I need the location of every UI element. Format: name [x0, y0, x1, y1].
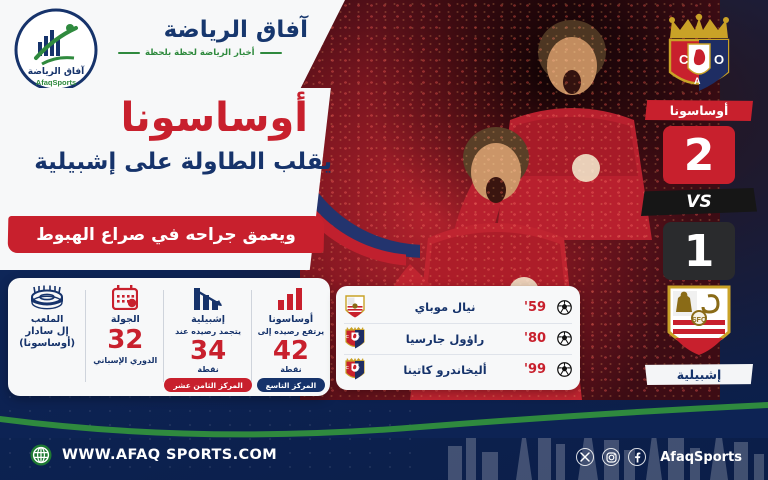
osasuna-crest-icon: C O — [344, 357, 366, 382]
stadium-club: (أوساسونا) — [19, 338, 75, 349]
stadium-name: إل سادار — [25, 326, 69, 337]
scorer-row: C O أليخاندرو كاتينا 99' — [344, 354, 572, 385]
bar-chart-up-icon — [276, 285, 306, 310]
footer-social: AfaqSports — [576, 448, 742, 466]
svg-text:آفاق الرياضة: آفاق الرياضة — [28, 65, 85, 77]
football-icon — [557, 362, 572, 377]
brand-title: آفاق الرياضة — [118, 17, 308, 43]
stat-unit: نقطة — [280, 365, 301, 374]
away-team-label: إشبيلية — [645, 364, 753, 385]
svg-text:C: C — [679, 52, 689, 67]
stat-position-badge: المركز التاسع — [257, 378, 325, 392]
svg-text:AfaqSports: AfaqSports — [36, 78, 76, 87]
instagram-icon[interactable] — [602, 448, 620, 466]
infographic-canvas: Kosner آفاق الرياضة AfaqSports آفاق الري… — [0, 0, 768, 480]
svg-text:O: O — [356, 365, 360, 370]
osasuna-crest-icon: C O — [344, 326, 366, 351]
svg-text:SFC: SFC — [692, 317, 706, 324]
stat-label: الملعب — [31, 314, 64, 325]
calendar-icon — [112, 285, 138, 310]
header: آفاق الرياضة AfaqSports آفاق الرياضة أخب… — [0, 0, 345, 96]
footer-url-text: WWW.AFAQ SPORTS.COM — [62, 447, 277, 463]
scorer-minute: 59' — [524, 300, 550, 315]
scorer-name: نيال موباي — [373, 300, 517, 314]
x-twitter-icon[interactable] — [576, 448, 594, 466]
osasuna-crest-icon: C O A — [660, 12, 738, 98]
sevilla-crest-icon: SFC — [664, 284, 734, 362]
stat-osasuna-points: أوساسونا يرتفع رصيده إلى 42 نقطة المركز … — [252, 278, 330, 396]
scorer-row: نيال موباي 59' — [344, 292, 572, 323]
dash-right-icon — [118, 52, 140, 54]
dash-left-icon — [260, 52, 282, 54]
vs-label: VS — [641, 188, 757, 216]
bar-chart-down-icon — [192, 285, 224, 310]
afaq-sports-logo-icon: آفاق الرياضة AfaqSports — [14, 8, 98, 92]
globe-icon — [30, 444, 52, 466]
sevilla-crest-icon — [344, 295, 366, 320]
goal-scorers-panel: نيال موباي 59' C O راؤول جارسيا 80' — [336, 286, 580, 390]
facebook-icon[interactable] — [628, 448, 646, 466]
scorer-row: C O راؤول جارسيا 80' — [344, 323, 572, 354]
footer: WWW.AFAQ SPORTS.COM AfaqSports — [0, 424, 768, 480]
svg-text:A: A — [694, 76, 701, 86]
brand-block: آفاق الرياضة أخبار الرياضة لحظة بلحظة — [118, 17, 308, 58]
stat-team-name: إشبيلية — [191, 314, 225, 325]
stats-card: أوساسونا يرتفع رصيده إلى 42 نقطة المركز … — [8, 278, 330, 396]
scorer-minute: 80' — [524, 331, 550, 346]
headline-line-1: أوساسونا — [121, 98, 308, 138]
headline-line-3: ويعمق جراحه في صراع الهبوط — [8, 216, 324, 253]
score-panel: C O A أوساسونا 2 VS 1 SFC — [630, 0, 768, 400]
stat-number: 42 — [273, 338, 309, 364]
stat-stadium: الملعب إل سادار (أوساسونا) — [8, 278, 86, 396]
scorer-name: أليخاندرو كاتينا — [373, 363, 517, 377]
footer-handle: AfaqSports — [660, 450, 742, 465]
footer-website[interactable]: WWW.AFAQ SPORTS.COM — [30, 444, 277, 466]
svg-text:O: O — [714, 52, 724, 67]
stat-description: يرتفع رصيده إلى — [258, 327, 325, 336]
stat-number: 34 — [190, 338, 226, 364]
stat-matchweek: الجولة 32 الدوري الإسباني — [86, 278, 164, 396]
stat-unit: نقطة — [197, 365, 218, 374]
home-team-label: أوساسونا — [645, 100, 753, 121]
scorer-minute: 99' — [524, 362, 550, 377]
stat-number: 32 — [107, 327, 143, 353]
headline-block: أوساسونا يقلب الطاولة على إشبيلية ويعمق … — [0, 88, 352, 270]
away-score: 1 — [663, 222, 735, 280]
headline-line-2: يقلب الطاولة على إشبيلية — [34, 150, 332, 175]
scorer-name: راؤول جارسيا — [373, 332, 517, 346]
stat-sevilla-points: إشبيلية يتجمد رصيده عند 34 نقطة المركز ا… — [164, 278, 251, 396]
home-score: 2 — [663, 126, 735, 184]
brand-tagline: أخبار الرياضة لحظة بلحظة — [145, 48, 255, 58]
stat-description: يتجمد رصيده عند — [175, 327, 241, 336]
brand-tagline-row: أخبار الرياضة لحظة بلحظة — [118, 48, 308, 58]
stat-team-name: أوساسونا — [269, 314, 314, 325]
stat-label: الجولة — [111, 314, 140, 325]
football-icon — [557, 331, 572, 346]
stat-competition: الدوري الإسباني — [93, 356, 157, 365]
stat-position-badge: المركز الثامن عشر — [164, 378, 251, 392]
svg-text:O: O — [356, 334, 360, 339]
stadium-icon — [30, 285, 64, 310]
football-icon — [557, 300, 572, 315]
